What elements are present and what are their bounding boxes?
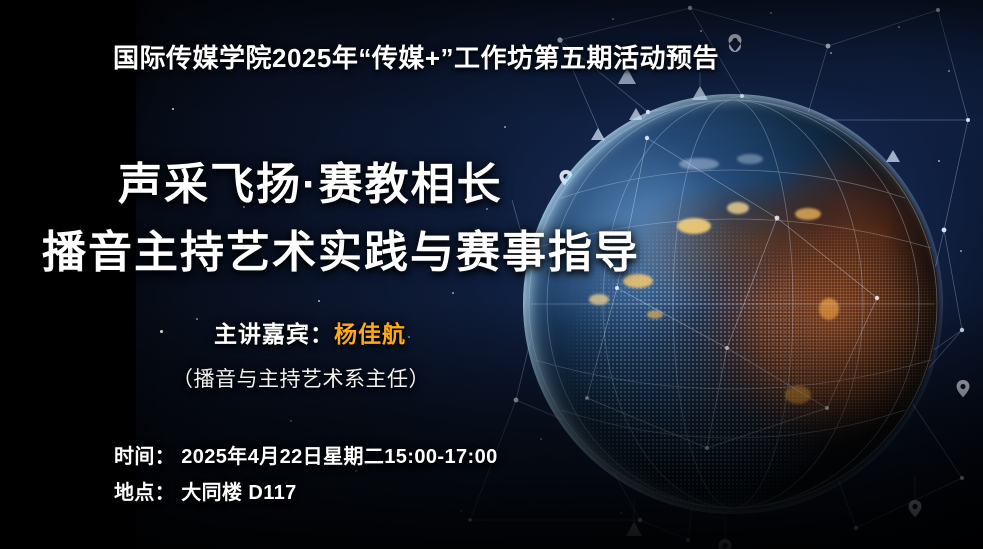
event-headline: 国际传媒学院2025年“传媒+”工作坊第五期活动预告: [113, 38, 719, 75]
poster-canvas: 国际传媒学院2025年“传媒+”工作坊第五期活动预告 声采飞扬·赛教相长 播音主…: [0, 0, 983, 549]
globe-sphere: [527, 98, 939, 510]
place-value: 大同楼 D117: [181, 482, 296, 504]
speaker-label: 主讲嘉宾：: [214, 321, 334, 347]
place-label: 地点：: [114, 482, 175, 504]
speaker-row: 主讲嘉宾：杨佳航: [214, 315, 406, 349]
speaker-name: 杨佳航: [334, 321, 406, 347]
speaker-title: （播音与主持艺术系主任）: [172, 363, 430, 393]
time-value: 2025年4月22日星期二15:00-17:00: [181, 446, 497, 468]
place-row: 地点：大同楼 D117: [114, 476, 297, 505]
time-row: 时间：2025年4月22日星期二15:00-17:00: [114, 440, 498, 469]
main-title-line-2: 播音主持艺术实践与赛事指导: [42, 216, 640, 280]
main-title-line-1: 声采飞扬·赛教相长: [118, 148, 503, 212]
globe-graticule: [527, 98, 939, 510]
earth-globe: [527, 98, 939, 510]
time-label: 时间：: [114, 446, 175, 468]
